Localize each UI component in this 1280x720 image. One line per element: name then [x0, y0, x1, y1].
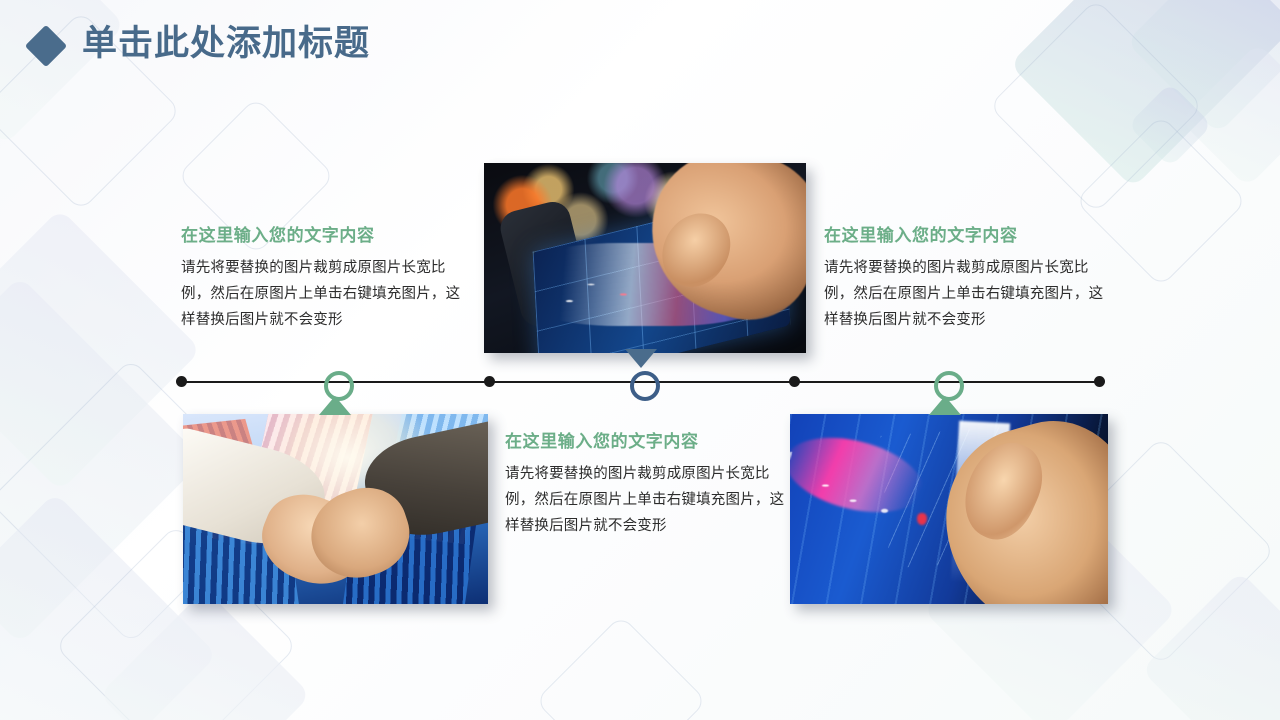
text-block-right: 在这里输入您的文字内容 请先将要替换的图片裁剪成原图片长宽比例，然后在原图片上单…: [824, 221, 1117, 333]
timeline-dot-2[interactable]: [484, 376, 495, 387]
timeline-dot-start[interactable]: [176, 376, 187, 387]
timeline-dot-end[interactable]: [1094, 376, 1105, 387]
timeline-pointer-down-2: [625, 349, 657, 368]
text-block-right-heading: 在这里输入您的文字内容: [824, 221, 1117, 246]
timeline-pointer-up-3: [929, 396, 961, 415]
diamond-icon: [25, 25, 67, 67]
photo-bottom-right[interactable]: [790, 414, 1108, 604]
chart-red-marker: [917, 513, 927, 525]
text-block-center: 在这里输入您的文字内容 请先将要替换的图片裁剪成原图片长宽比例，然后在原图片上单…: [505, 427, 785, 539]
photo-bottom-left-content: [183, 414, 488, 604]
text-block-center-body: 请先将要替换的图片裁剪成原图片长宽比例，然后在原图片上单击右键填充图片，这样替换…: [505, 461, 785, 539]
timeline-marker-2[interactable]: [630, 371, 660, 401]
text-block-center-heading: 在这里输入您的文字内容: [505, 427, 785, 452]
slide-canvas: 单击此处添加标题: [0, 0, 1280, 720]
timeline-pointer-up-1: [319, 396, 351, 415]
page-title: 单击此处添加标题: [82, 18, 370, 70]
photo-top[interactable]: [484, 163, 806, 353]
photo-top-content: [484, 163, 806, 353]
timeline-dot-3[interactable]: [789, 376, 800, 387]
text-block-right-body: 请先将要替换的图片裁剪成原图片长宽比例，然后在原图片上单击右键填充图片，这样替换…: [824, 255, 1117, 333]
photo-bottom-left[interactable]: [183, 414, 488, 604]
photo-bottom-right-content: [790, 414, 1108, 604]
text-block-left-body: 请先将要替换的图片裁剪成原图片长宽比例，然后在原图片上单击右键填充图片，这样替换…: [181, 255, 474, 333]
text-block-left-heading: 在这里输入您的文字内容: [181, 221, 474, 246]
text-block-left: 在这里输入您的文字内容 请先将要替换的图片裁剪成原图片长宽比例，然后在原图片上单…: [181, 221, 474, 333]
